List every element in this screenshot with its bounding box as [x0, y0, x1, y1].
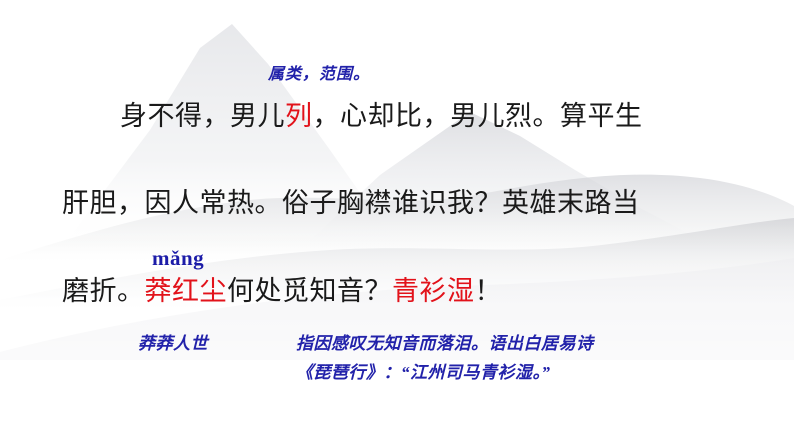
- poem-line-1-seg-0: 身不得，男儿: [120, 101, 285, 131]
- poem-line-3-highlight-mang-hong-chen: 莽红尘: [145, 276, 228, 306]
- poem-line-1: 身不得，男儿列，心却比，男儿烈。算平生: [120, 103, 643, 130]
- poem-line-3-highlight-qing-shan-shi: 青衫湿: [392, 276, 475, 306]
- slide-canvas: 属类，范围。 身不得，男儿列，心却比，男儿烈。算平生 肝胆，因人常热。俗子胸襟谁…: [0, 0, 794, 447]
- poem-line-1-highlight-lie: 列: [285, 101, 313, 131]
- top-gloss-annotation: 属类，范围。: [268, 60, 370, 84]
- poem-line-2: 肝胆，因人常热。俗子胸襟谁识我？英雄末路当: [62, 190, 640, 217]
- poem-line-3-seg-4: ！: [475, 276, 503, 306]
- poem-line-3-seg-0: 磨折。: [62, 276, 145, 306]
- poem-line-3-seg-2: 何处觅知音？: [227, 276, 392, 306]
- poem-line-2-seg-0: 肝胆，因人常热。俗子胸襟谁识我？英雄末路当: [62, 188, 640, 218]
- annotation-body-line-2: 《琵琶行》：“江州司马青衫湿。”: [296, 358, 551, 383]
- pinyin-mang: mǎng: [152, 246, 204, 271]
- poem-line-3: 磨折。莽红尘何处觅知音？青衫湿！: [62, 278, 502, 305]
- annotation-body-line-1: 指因感叹无知音而落泪。语出白居易诗: [296, 329, 594, 354]
- poem-line-1-seg-2: ，心却比，男儿烈。算平生: [313, 101, 643, 131]
- annotation-term-mangmang-renshi: 莽莽人世: [138, 329, 208, 354]
